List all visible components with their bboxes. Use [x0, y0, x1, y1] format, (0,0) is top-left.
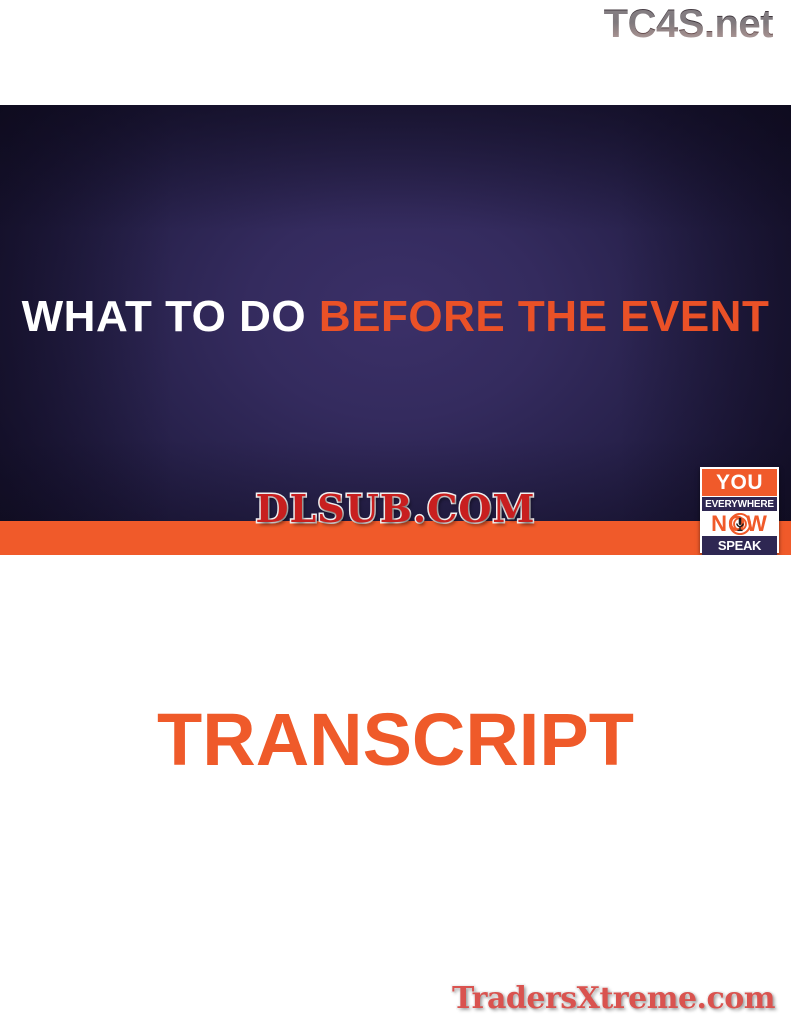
slide-title-accent: BEFORE THE EVENT — [319, 292, 770, 341]
brand-logo-line-speak: SPEAK — [702, 538, 777, 553]
brand-logo-line-everywhere: EVERYWHERE — [702, 497, 777, 512]
brand-logo-tagline: SPEAK &PROFIT — [702, 536, 777, 555]
slide-overlay-watermark: DLSUB.COM — [0, 486, 791, 531]
slide-image: WHAT TO DO BEFORE THE EVENT DLSUB.COM YO… — [0, 105, 791, 555]
slide-title-primary: WHAT TO DO — [22, 292, 306, 341]
slide-title: WHAT TO DO BEFORE THE EVENT — [0, 295, 791, 339]
brand-logo-line-profit: &PROFIT — [702, 553, 777, 555]
brand-logo-line-you: YOU — [702, 469, 777, 497]
brand-logo: YOU EVERYWHERE NOW SPEAK &PROFIT — [700, 467, 779, 553]
top-watermark: TC4S.net — [604, 2, 773, 47]
microphone-broadcast-icon — [729, 513, 751, 535]
bottom-watermark: TradersXtreme.com — [452, 981, 775, 1016]
page-title: TRANSCRIPT — [0, 703, 791, 777]
brand-logo-line-now: NOW — [702, 512, 777, 536]
